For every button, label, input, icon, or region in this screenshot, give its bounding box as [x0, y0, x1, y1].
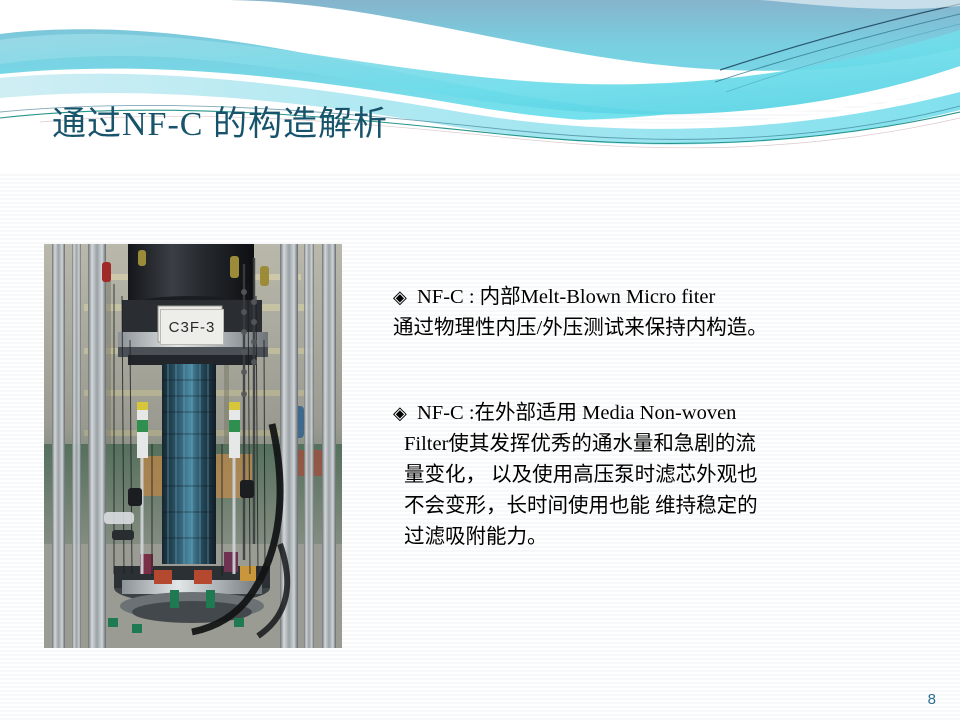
photo-illustration	[44, 244, 342, 648]
slide-title: 通过NF-C 的构造解析	[52, 96, 388, 145]
bullet-block-2-line-1: ◈NF-C :在外部适用 Media Non-woven	[393, 398, 758, 429]
bullet-block-2-line-5: 过滤吸附能力。	[393, 522, 758, 553]
diamond-bullet-icon: ◈	[393, 398, 417, 429]
bullet-block-2-line-3: 量变化， 以及使用高压泵时滤芯外观也	[393, 460, 758, 491]
bullet-block-2-line-2: Filter使其发挥优秀的通水量和急剧的流	[393, 429, 758, 460]
bullet-block-1-line-2: 通过物理性内压/外压测试来保持内构造。	[393, 313, 768, 344]
industrial-test-rig-photo: C3F-3	[44, 244, 342, 648]
slide-number: 8	[928, 691, 936, 708]
bullet-block-1-line-1: ◈NF-C : 内部Melt-Blown Micro fiter	[393, 282, 768, 313]
specimen-label: C3F-3	[160, 309, 224, 345]
header-wave-decoration	[0, 0, 960, 172]
diamond-bullet-icon: ◈	[393, 282, 417, 313]
bullet-block-2: ◈NF-C :在外部适用 Media Non-woven Filter使其发挥优…	[393, 398, 758, 553]
bullet-block-1-text-1: NF-C : 内部Melt-Blown Micro fiter	[417, 286, 715, 308]
bullet-block-2-line-4: 不会变形，长时间使用也能 维持稳定的	[393, 491, 758, 522]
bullet-block-2-text-1: NF-C :在外部适用 Media Non-woven	[417, 402, 736, 424]
presentation-slide: 通过NF-C 的构造解析	[0, 0, 960, 720]
bullet-block-1: ◈NF-C : 内部Melt-Blown Micro fiter 通过物理性内压…	[393, 282, 768, 344]
